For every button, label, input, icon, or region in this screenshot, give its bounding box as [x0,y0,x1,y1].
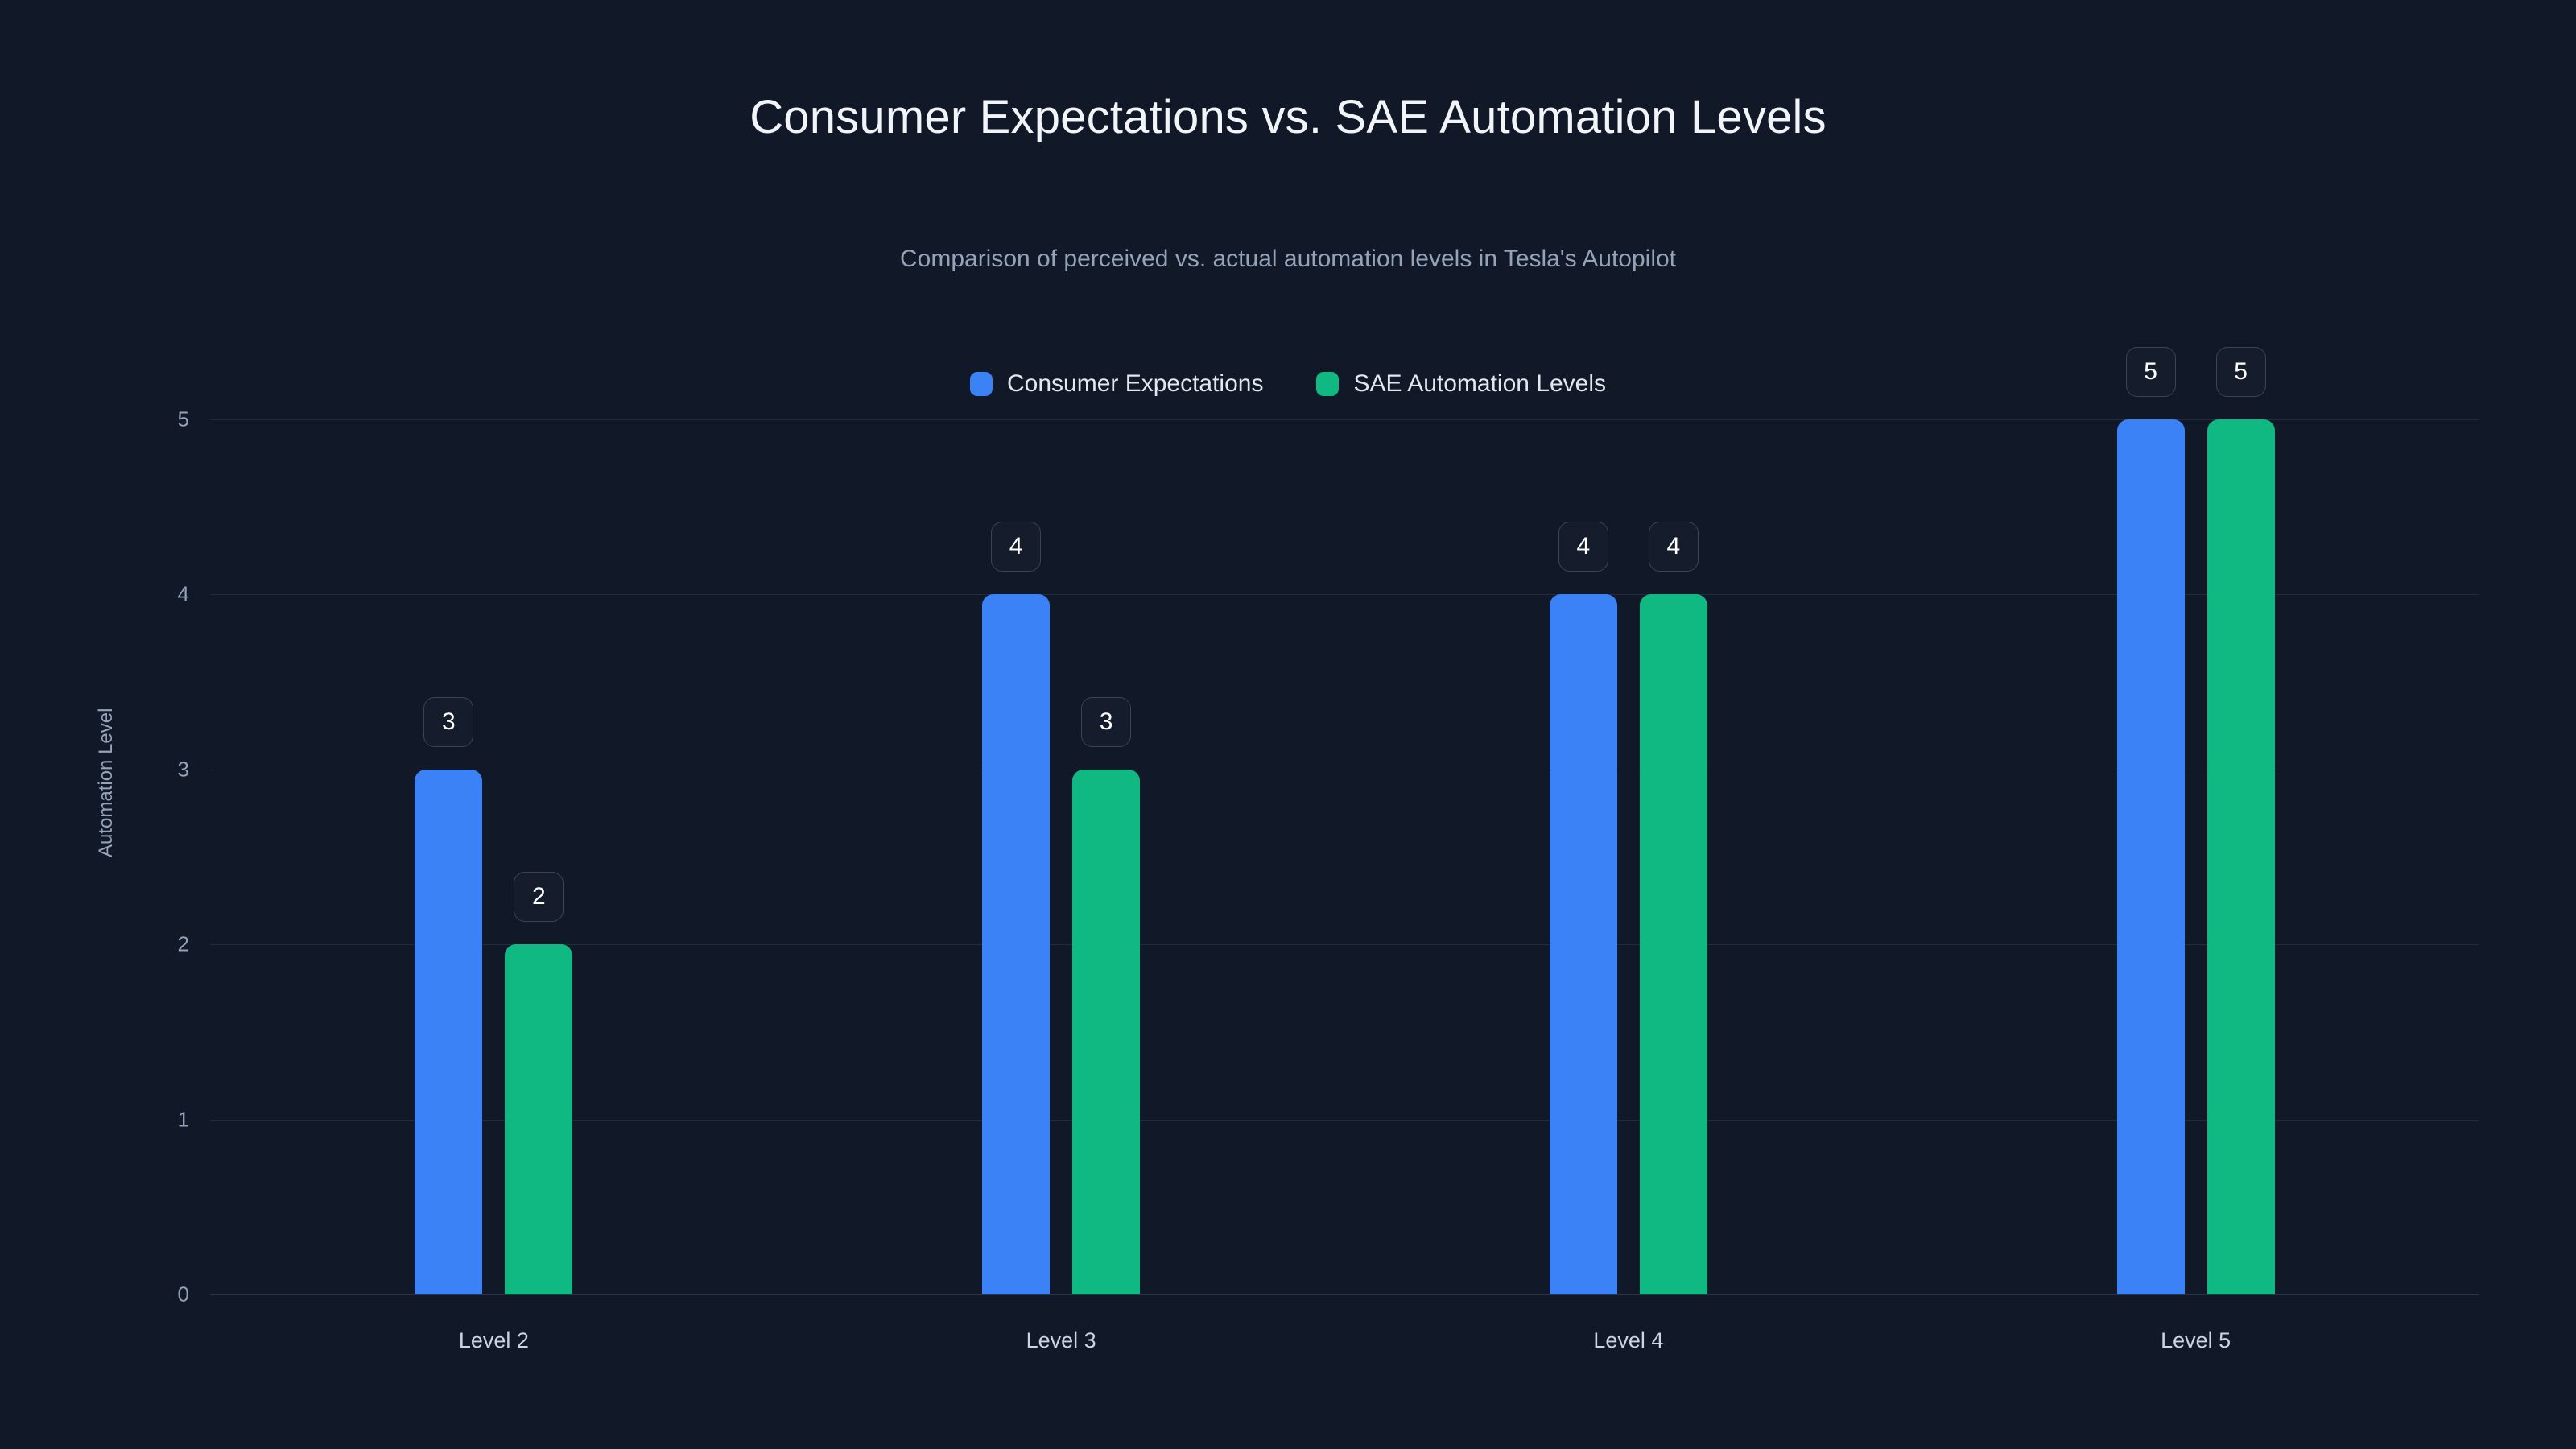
bar[interactable] [1550,594,1617,1294]
legend-label: Consumer Expectations [1007,370,1264,398]
chart-subtitle: Comparison of perceived vs. actual autom… [0,246,2576,273]
y-axis-title: Automation Level [95,708,118,857]
bar-value-badge: 3 [423,697,473,747]
bar[interactable] [982,594,1050,1294]
y-axis-tick-label: 3 [141,757,189,782]
legend-item[interactable]: SAE Automation Levels [1316,370,1606,398]
x-axis-tick-label: Level 3 [1026,1328,1096,1353]
chart-legend: Consumer ExpectationsSAE Automation Leve… [0,370,2576,398]
y-axis-tick-label: 5 [141,407,189,432]
bar-value-badge: 4 [991,522,1041,572]
bar-value-badge: 5 [2216,347,2266,397]
x-axis-tick-label: Level 2 [459,1328,529,1353]
y-axis-tick-label: 2 [141,932,189,957]
y-axis-tick-label: 1 [141,1107,189,1132]
gridline [210,1294,2479,1295]
x-axis-tick-label: Level 4 [1593,1328,1663,1353]
bar[interactable] [2117,419,2185,1294]
bar[interactable] [2207,419,2275,1294]
x-axis-tick-label: Level 5 [2161,1328,2231,1353]
legend-swatch-icon [1316,372,1339,396]
plot-area: 01234532Level 243Level 344Level 455Level… [210,419,2479,1294]
legend-label: SAE Automation Levels [1353,370,1606,398]
bar-value-badge: 4 [1649,522,1699,572]
bar-value-badge: 4 [1558,522,1608,572]
legend-item[interactable]: Consumer Expectations [970,370,1264,398]
chart-container: Consumer Expectations vs. SAE Automation… [0,0,2576,1449]
bar-value-badge: 2 [514,872,563,922]
y-axis-tick-label: 4 [141,582,189,607]
bar-value-badge: 3 [1081,697,1131,747]
bar[interactable] [415,770,482,1294]
bar[interactable] [505,944,572,1294]
y-axis-tick-label: 0 [141,1282,189,1307]
bar-value-badge: 5 [2126,347,2176,397]
legend-swatch-icon [970,372,993,396]
chart-title: Consumer Expectations vs. SAE Automation… [0,90,2576,144]
bar[interactable] [1072,770,1140,1294]
bar[interactable] [1640,594,1707,1294]
